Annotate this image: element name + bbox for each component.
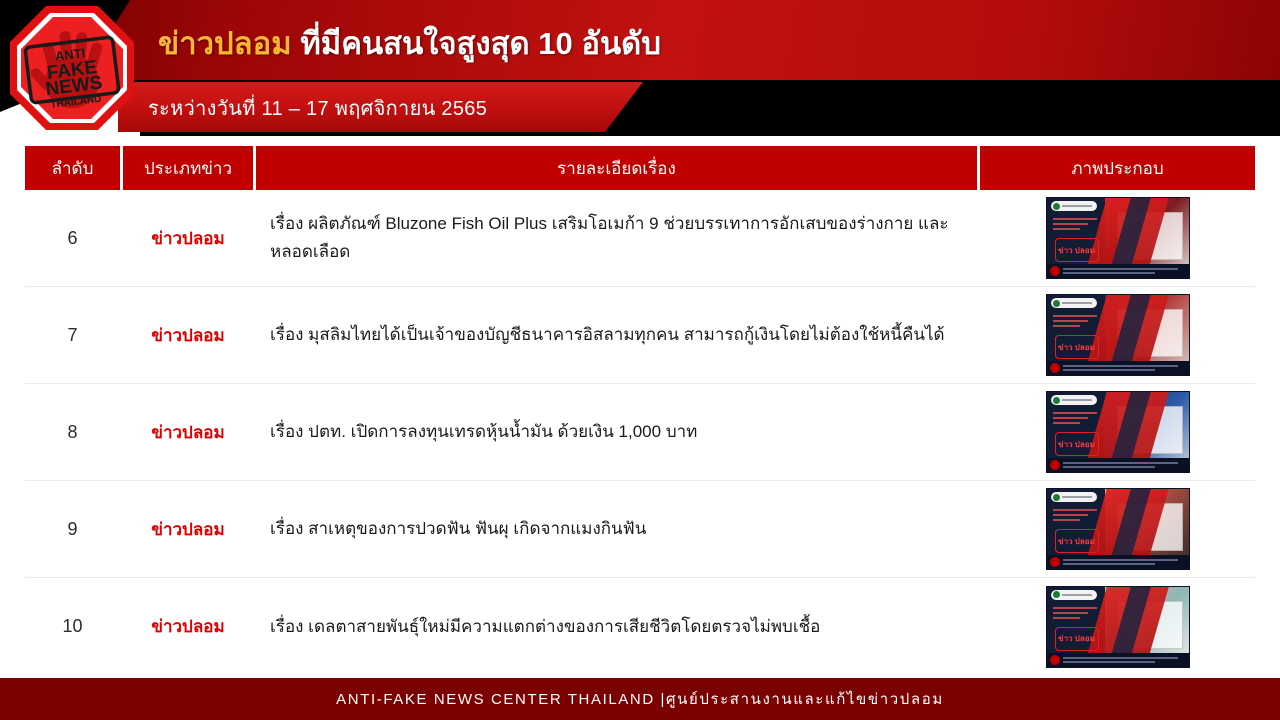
thumbnail-footer-bar (1047, 653, 1190, 667)
anti-fake-news-logo: ANTI FAKE NEWS THAILAND (8, 4, 136, 132)
thumbnail-fake-stamp: ข่าว ปลอม (1055, 238, 1099, 262)
table-header-row: ลำดับ ประเภทข่าว รายละเอียดเรื่อง ภาพประ… (25, 146, 1255, 190)
footer-text: ANTI-FAKE NEWS CENTER THAILAND |ศูนย์ประ… (336, 687, 944, 711)
cell-detail: เรื่อง ปตท. เปิดการลงทุนเทรดหุ้นน้ำมัน ด… (256, 384, 977, 480)
news-thumbnail[interactable]: ข่าว ปลอม (1046, 294, 1190, 376)
cell-rank: 7 (25, 287, 120, 383)
thumbnail-fake-stamp: ข่าว ปลอม (1055, 432, 1099, 456)
page-footer: ANTI-FAKE NEWS CENTER THAILAND |ศูนย์ประ… (0, 678, 1280, 720)
cell-type: ข่าวปลอม (123, 578, 253, 675)
table-row: 7 ข่าวปลอม เรื่อง มุสลิมไทยได้เป็นเจ้าขอ… (25, 287, 1255, 384)
table-row: 10 ข่าวปลอม เรื่อง เดลตาสายพันธุ์ใหม่มีค… (25, 578, 1255, 675)
thumbnail-logo-text-line (1062, 205, 1092, 207)
cell-image[interactable]: ข่าว ปลอม (980, 190, 1255, 286)
cell-detail: เรื่อง เดลตาสายพันธุ์ใหม่มีความแตกต่างขอ… (256, 578, 977, 675)
thumbnail-headline-lines (1053, 412, 1097, 427)
thumbnail-fake-stamp: ข่าว ปลอม (1055, 529, 1099, 553)
thumbnail-logo-badge (1051, 395, 1097, 405)
thumbnail-logo-text-line (1062, 594, 1092, 596)
thumbnail-headline-lines (1053, 607, 1097, 622)
news-thumbnail[interactable]: ข่าว ปลอม (1046, 586, 1190, 668)
column-header-image: ภาพประกอบ (980, 146, 1255, 190)
thumbnail-logo-dot-icon (1053, 494, 1060, 501)
thumbnail-footer-lines (1063, 657, 1190, 663)
thumbnail-footer-bar (1047, 458, 1190, 472)
date-range-label: ระหว่างวันที่ 11 – 17 พฤศจิกายน 2565 (148, 92, 487, 124)
thumbnail-footer-lines (1063, 559, 1190, 565)
thumbnail-logo-dot-icon (1053, 397, 1060, 404)
page-title-highlight: ข่าวปลอม (158, 26, 292, 61)
thumbnail-footer-logo-icon (1050, 363, 1060, 373)
thumbnail-footer-lines (1063, 462, 1190, 468)
thumbnail-logo-dot-icon (1053, 300, 1060, 307)
thumbnail-logo-badge (1051, 492, 1097, 502)
cell-type: ข่าวปลอม (123, 190, 253, 286)
thumbnail-logo-badge (1051, 201, 1097, 211)
news-thumbnail[interactable]: ข่าว ปลอม (1046, 197, 1190, 279)
thumbnail-footer-bar (1047, 264, 1190, 278)
thumbnail-fake-stamp: ข่าว ปลอม (1055, 335, 1099, 359)
cell-rank: 8 (25, 384, 120, 480)
cell-detail: เรื่อง สาเหตุของการปวดฟัน ฟันผุ เกิดจากแ… (256, 481, 977, 577)
thumbnail-footer-bar (1047, 361, 1190, 375)
news-thumbnail[interactable]: ข่าว ปลอม (1046, 488, 1190, 570)
thumbnail-headline-lines (1053, 315, 1097, 330)
thumbnail-fake-stamp: ข่าว ปลอม (1055, 627, 1099, 651)
thumbnail-logo-dot-icon (1053, 203, 1060, 210)
cell-image[interactable]: ข่าว ปลอม (980, 384, 1255, 480)
news-thumbnail[interactable]: ข่าว ปลอม (1046, 391, 1190, 473)
cell-image[interactable]: ข่าว ปลอม (980, 481, 1255, 577)
column-header-type: ประเภทข่าว (123, 146, 253, 190)
page-header: ข่าวปลอม ที่มีคนสนใจสูงสุด 10 อันดับ ระห… (0, 0, 1280, 136)
thumbnail-headline-lines (1053, 509, 1097, 524)
thumbnail-footer-lines (1063, 365, 1190, 371)
page-title-rest: ที่มีคนสนใจสูงสุด 10 อันดับ (292, 26, 661, 61)
thumbnail-logo-text-line (1062, 399, 1092, 401)
thumbnail-logo-badge (1051, 298, 1097, 308)
thumbnail-logo-text-line (1062, 496, 1092, 498)
thumbnail-footer-logo-icon (1050, 655, 1060, 665)
thumbnail-footer-logo-icon (1050, 557, 1060, 567)
column-header-rank: ลำดับ (25, 146, 120, 190)
thumbnail-logo-dot-icon (1053, 591, 1060, 598)
cell-detail: เรื่อง ผลิตภัณฑ์ Bluzone Fish Oil Plus เ… (256, 190, 977, 286)
thumbnail-footer-lines (1063, 268, 1190, 274)
thumbnail-logo-badge (1051, 590, 1097, 600)
cell-image[interactable]: ข่าว ปลอม (980, 287, 1255, 383)
thumbnail-footer-bar (1047, 555, 1190, 569)
thumbnail-headline-lines (1053, 218, 1097, 233)
thumbnail-footer-logo-icon (1050, 460, 1060, 470)
cell-rank: 10 (25, 578, 120, 675)
cell-rank: 6 (25, 190, 120, 286)
page-title: ข่าวปลอม ที่มีคนสนใจสูงสุด 10 อันดับ (158, 18, 661, 68)
thumbnail-logo-text-line (1062, 302, 1092, 304)
table-row: 6 ข่าวปลอม เรื่อง ผลิตภัณฑ์ Bluzone Fish… (25, 190, 1255, 287)
cell-rank: 9 (25, 481, 120, 577)
thumbnail-footer-logo-icon (1050, 266, 1060, 276)
cell-image[interactable]: ข่าว ปลอม (980, 578, 1255, 675)
cell-type: ข่าวปลอม (123, 384, 253, 480)
table-row: 9 ข่าวปลอม เรื่อง สาเหตุของการปวดฟัน ฟัน… (25, 481, 1255, 578)
cell-detail: เรื่อง มุสลิมไทยได้เป็นเจ้าของบัญชีธนาคา… (256, 287, 977, 383)
cell-type: ข่าวปลอม (123, 287, 253, 383)
table-row: 8 ข่าวปลอม เรื่อง ปตท. เปิดการลงทุนเทรดห… (25, 384, 1255, 481)
fake-news-ranking-table: ลำดับ ประเภทข่าว รายละเอียดเรื่อง ภาพประ… (25, 146, 1255, 675)
cell-type: ข่าวปลอม (123, 481, 253, 577)
column-header-detail: รายละเอียดเรื่อง (256, 146, 977, 190)
